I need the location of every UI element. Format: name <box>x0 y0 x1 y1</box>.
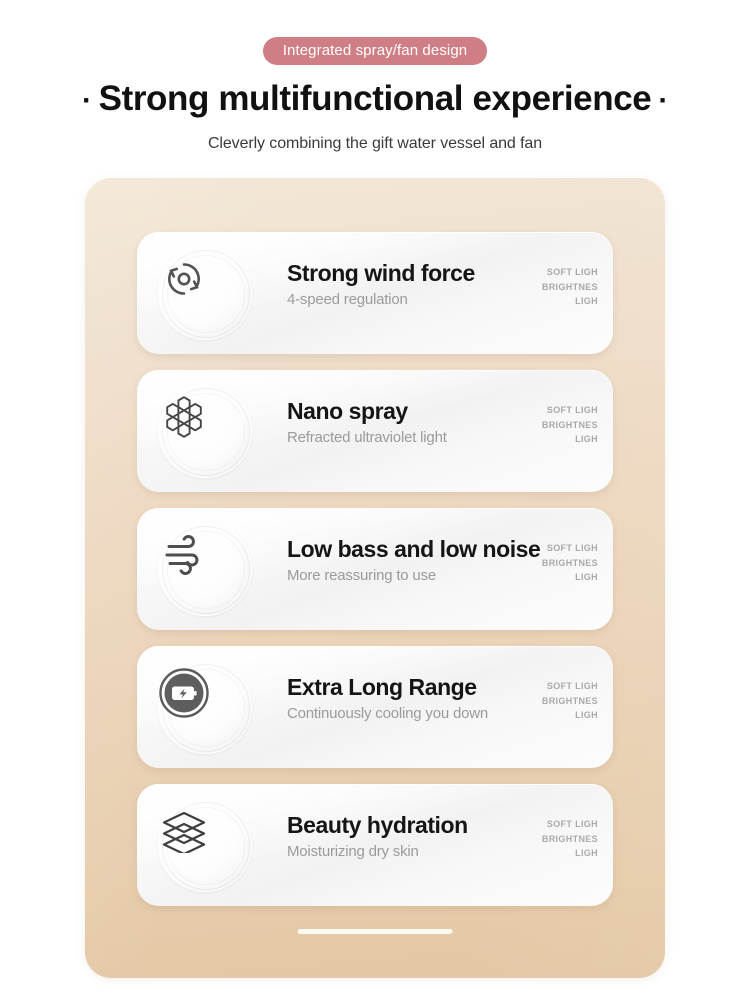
home-indicator-bar[interactable] <box>298 929 453 934</box>
rotation-arrows-icon <box>137 232 231 326</box>
device-panel: Strong wind force 4-speed regulation SOF… <box>85 178 665 978</box>
wind-lines-icon <box>137 508 231 602</box>
feature-card[interactable]: Nano spray Refracted ultraviolet light S… <box>137 370 613 492</box>
card-spec-labels: SOFT LIGH BRIGHTNES LIGH <box>516 541 598 585</box>
page-title-text: Strong multifunctional experience <box>99 79 652 118</box>
spec-line-3: LIGH <box>516 294 598 309</box>
spec-line-2: BRIGHTNES <box>516 556 598 571</box>
promo-page: Integrated spray/fan design ·Strong mult… <box>0 0 750 1000</box>
spec-line-2: BRIGHTNES <box>516 694 598 709</box>
spec-line-2: BRIGHTNES <box>516 832 598 847</box>
title-dot-right: · <box>651 84 675 117</box>
spec-line-1: SOFT LIGH <box>516 817 598 832</box>
feature-card[interactable]: Strong wind force 4-speed regulation SOF… <box>137 232 613 354</box>
card-spec-labels: SOFT LIGH BRIGHTNES LIGH <box>516 403 598 447</box>
feature-card[interactable]: Extra Long Range Continuously cooling yo… <box>137 646 613 768</box>
feature-card[interactable]: Low bass and low noise More reassuring t… <box>137 508 613 630</box>
spec-line-2: BRIGHTNES <box>516 280 598 295</box>
page-subtitle: Cleverly combining the gift water vessel… <box>0 135 750 153</box>
spec-line-3: LIGH <box>516 570 598 585</box>
spec-line-3: LIGH <box>516 432 598 447</box>
spec-line-1: SOFT LIGH <box>516 541 598 556</box>
honeycomb-icon <box>137 370 231 464</box>
title-dot-left: · <box>75 84 99 117</box>
spec-line-2: BRIGHTNES <box>516 418 598 433</box>
battery-bolt-icon <box>137 646 231 740</box>
feature-card-list: Strong wind force 4-speed regulation SOF… <box>137 232 613 922</box>
spec-line-1: SOFT LIGH <box>516 265 598 280</box>
feature-card[interactable]: Beauty hydration Moisturizing dry skin S… <box>137 784 613 906</box>
spec-line-1: SOFT LIGH <box>516 679 598 694</box>
spec-line-3: LIGH <box>516 846 598 861</box>
card-spec-labels: SOFT LIGH BRIGHTNES LIGH <box>516 817 598 861</box>
header-badge: Integrated spray/fan design <box>263 37 488 65</box>
spec-line-3: LIGH <box>516 708 598 723</box>
stacked-layers-icon <box>137 784 231 878</box>
page-title: ·Strong multifunctional experience· <box>0 80 750 119</box>
card-spec-labels: SOFT LIGH BRIGHTNES LIGH <box>516 265 598 309</box>
page-header: Integrated spray/fan design ·Strong mult… <box>0 0 750 153</box>
card-spec-labels: SOFT LIGH BRIGHTNES LIGH <box>516 679 598 723</box>
spec-line-1: SOFT LIGH <box>516 403 598 418</box>
